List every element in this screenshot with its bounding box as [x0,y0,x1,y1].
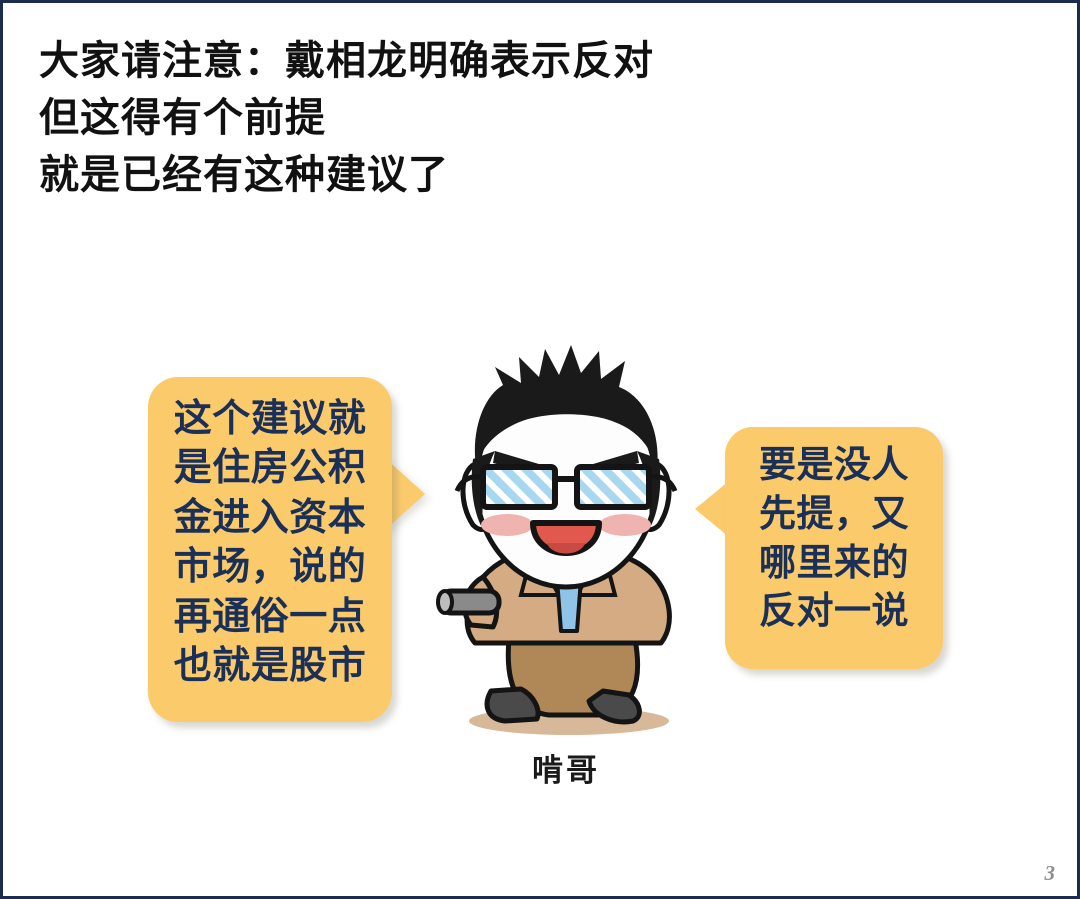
slide-canvas: 大家请注意：戴相龙明确表示反对 但这得有个前提 就是已经有这种建议了 这个建议就… [0,0,1080,899]
speech-bubble-right: 要是没人 先提，又 哪里来的 反对一说 [725,427,943,669]
shoe-left [487,689,538,721]
microphone [438,591,499,613]
slide-heading: 大家请注意：戴相龙明确表示反对 但这得有个前提 就是已经有这种建议了 [39,33,979,203]
character-illustration [421,339,711,749]
speech-bubble-left-text: 这个建议就 是住房公积 金进入资本 市场，说的 再通俗一点 也就是股市 [148,377,392,691]
page-number: 3 [1045,861,1056,886]
character-caption: 啃哥 [421,745,711,790]
speech-bubble-right-text: 要是没人 先提，又 哪里来的 反对一说 [725,427,943,636]
blush-right [599,514,651,536]
speech-bubble-left: 这个建议就 是住房公积 金进入资本 市场，说的 再通俗一点 也就是股市 [148,377,392,722]
blush-left [481,514,533,536]
